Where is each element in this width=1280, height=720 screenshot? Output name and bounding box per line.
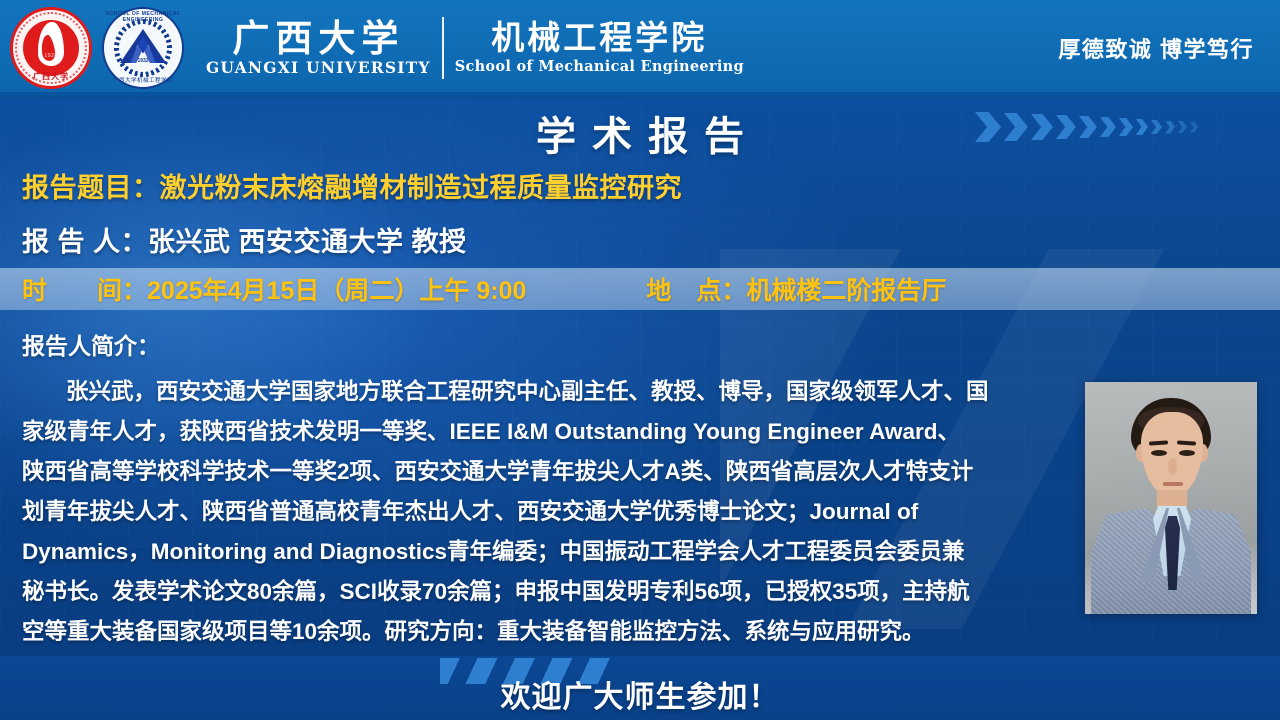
place-label: 地 点：	[646, 277, 746, 305]
chevron-right-icon	[1136, 119, 1148, 135]
seal-year: 1928	[10, 53, 92, 59]
chevron-right-icon	[1178, 121, 1187, 133]
bio-line: 陕西省高等学校科学技术一等奖2项、西安交通大学青年拔尖人才A类、陕西省高层次人才…	[22, 452, 1062, 492]
speaker-bio: 张兴武，西安交通大学国家地方联合工程研究中心副主任、教授、博导，国家级领军人才、…	[22, 372, 1062, 652]
academic-lecture-poster: 1928 广西大学 SCHOOL OF MECHANICAL ENGINEERI…	[0, 0, 1280, 720]
time-place-band: 时 间：2025年4月15日（周二）上午 9:00 地 点：机械楼二阶报告厅	[0, 268, 1280, 310]
chevron-right-icon	[1190, 122, 1198, 133]
chevron-right-icon	[1079, 116, 1097, 138]
university-name-block: 广西大学 GUANGXI UNIVERSITY	[206, 19, 431, 77]
time-label: 时 间：	[22, 277, 147, 305]
university-name-cn: 广西大学	[232, 19, 404, 57]
portrait-eye-left	[1151, 450, 1167, 456]
chevron-decoration	[975, 112, 1198, 142]
speaker-portrait-photo	[1085, 382, 1257, 614]
chevron-right-icon	[1056, 115, 1076, 139]
chevron-right-icon	[975, 112, 1001, 142]
bio-line: 空等重大装备国家级项目等10余项。研究方向：重大装备智能监控方法、系统与应用研究…	[22, 612, 1062, 652]
school-name-block: 机械工程学院 School of Mechanical Engineering	[455, 21, 744, 75]
emblem-arc-bottom: 广西大学机械工程学院	[102, 76, 184, 84]
chevron-right-icon	[1004, 113, 1028, 141]
portrait-mouth	[1163, 482, 1183, 486]
school-of-mechanical-engineering-emblem-icon: SCHOOL OF MECHANICAL ENGINEERING 1932 广西…	[102, 7, 184, 89]
chevron-right-icon	[1151, 120, 1162, 134]
emblem-year: 1932	[102, 58, 184, 64]
talk-title-label: 报告题目：	[22, 173, 160, 203]
institution-names: 广西大学 GUANGXI UNIVERSITY 机械工程学院 School of…	[206, 17, 744, 79]
talk-title-row: 报告题目：激光粉末床熔融增材制造过程质量监控研究	[22, 166, 682, 205]
name-divider	[442, 17, 444, 79]
speaker-value: 张兴武 西安交通大学 教授	[148, 227, 467, 257]
bio-line: 划青年拔尖人才、陕西省普通高校青年杰出人才、西安交通大学优秀博士论文；Journ…	[22, 492, 1062, 532]
talk-title-value: 激光粉末床熔融增材制造过程质量监控研究	[160, 173, 683, 203]
place-row: 地 点：机械楼二阶报告厅	[646, 271, 946, 307]
bio-line: 张兴武，西安交通大学国家地方联合工程研究中心副主任、教授、博导，国家级领军人才、…	[22, 372, 1062, 412]
school-name-en: School of Mechanical Engineering	[455, 58, 744, 75]
time-row: 时 间：2025年4月15日（周二）上午 9:00	[22, 271, 526, 307]
bio-heading: 报告人简介：	[22, 327, 160, 361]
chevron-right-icon	[1100, 117, 1116, 137]
guangxi-university-seal-icon: 1928 广西大学	[10, 7, 92, 89]
school-name-cn: 机械工程学院	[491, 21, 707, 56]
speaker-label: 报 告 人：	[22, 227, 148, 257]
emblem-arc-top: SCHOOL OF MECHANICAL ENGINEERING	[102, 11, 184, 23]
university-motto: 厚德致诚 博学笃行	[1058, 32, 1258, 64]
place-value: 机械楼二阶报告厅	[746, 277, 946, 305]
portrait-nose	[1168, 458, 1177, 475]
chevron-right-icon	[1165, 121, 1175, 134]
chevron-right-icon	[1119, 118, 1133, 136]
seal-label-cn: 广西大学	[10, 71, 92, 82]
bio-line: Dynamics，Monitoring and Diagnostics青年编委；…	[22, 532, 1062, 572]
university-name-en: GUANGXI UNIVERSITY	[206, 58, 431, 77]
time-value: 2025年4月15日（周二）上午 9:00	[147, 277, 526, 305]
poster-header: 1928 广西大学 SCHOOL OF MECHANICAL ENGINEERI…	[0, 0, 1280, 99]
footer-welcome-text: 欢迎广大师生参加！	[0, 672, 1280, 716]
portrait-eye-right	[1179, 450, 1195, 456]
bio-line: 秘书长。发表学术论文80余篇，SCI收录70余篇；申报中国发明专利56项，已授权…	[22, 572, 1062, 612]
speaker-row: 报 告 人：张兴武 西安交通大学 教授	[22, 220, 467, 259]
bio-line: 家级青年人才，获陕西省技术发明一等奖、IEEE I&M Outstanding …	[22, 412, 1062, 452]
chevron-right-icon	[1031, 114, 1053, 140]
logo-row: 1928 广西大学 SCHOOL OF MECHANICAL ENGINEERI…	[10, 7, 744, 89]
